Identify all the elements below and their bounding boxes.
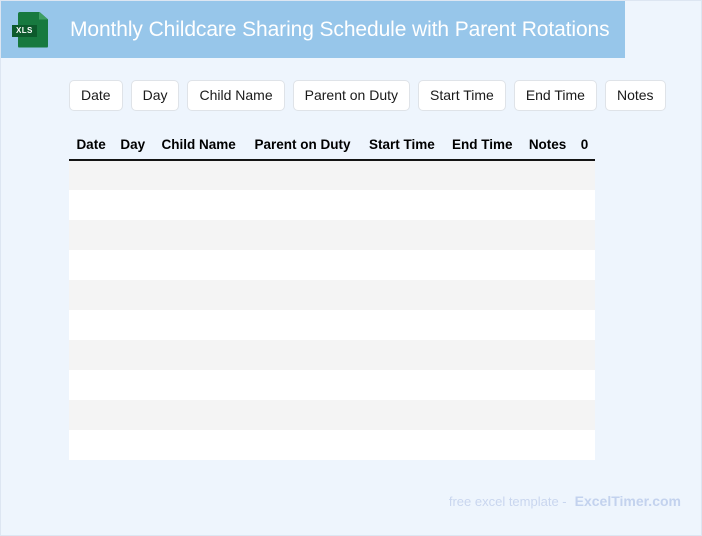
table-cell[interactable] [69,250,113,280]
table-cell[interactable] [360,340,443,370]
table-cell[interactable] [574,250,595,280]
table-row[interactable] [69,400,595,430]
table-cell[interactable] [113,250,152,280]
page-title: Monthly Childcare Sharing Schedule with … [70,18,610,42]
table-cell[interactable] [245,280,361,310]
table-cell[interactable] [574,340,595,370]
header-banner: XLS Monthly Childcare Sharing Schedule w… [1,1,625,58]
table-cell[interactable] [113,190,152,220]
table-cell[interactable] [521,340,574,370]
table-cell[interactable] [521,400,574,430]
table-row[interactable] [69,250,595,280]
table-row[interactable] [69,190,595,220]
xls-icon-label: XLS [12,25,37,37]
table-body [69,160,595,460]
table-cell[interactable] [360,250,443,280]
table-cell[interactable] [574,160,595,190]
field-chip-child-name[interactable]: Child Name [187,80,284,111]
table-cell[interactable] [444,190,522,220]
table-cell[interactable] [444,400,522,430]
column-header-start-time[interactable]: Start Time [360,134,443,160]
table-cell[interactable] [113,310,152,340]
table-cell[interactable] [360,370,443,400]
table-cell[interactable] [152,280,244,310]
table-cell[interactable] [444,370,522,400]
table-cell[interactable] [574,370,595,400]
table-cell[interactable] [444,430,522,460]
schedule-table: DateDayChild NameParent on DutyStart Tim… [69,134,595,460]
table-cell[interactable] [574,280,595,310]
field-chip-notes[interactable]: Notes [605,80,666,111]
table-cell[interactable] [69,220,113,250]
table-cell[interactable] [521,250,574,280]
table-cell[interactable] [574,190,595,220]
table-cell[interactable] [521,160,574,190]
table-cell[interactable] [360,190,443,220]
column-header-date[interactable]: Date [69,134,113,160]
field-chip-parent-on-duty[interactable]: Parent on Duty [293,80,410,111]
footer-brand-link[interactable]: ExcelTimer.com [575,493,681,509]
table-cell[interactable] [113,370,152,400]
table-cell[interactable] [521,430,574,460]
footer-label: free excel template - [449,494,567,509]
table-cell[interactable] [574,400,595,430]
table-cell[interactable] [152,160,244,190]
table-cell[interactable] [444,160,522,190]
table-cell[interactable] [113,430,152,460]
table-cell[interactable] [152,220,244,250]
table-cell[interactable] [69,340,113,370]
field-chip-start-time[interactable]: Start Time [418,80,506,111]
table-cell[interactable] [360,280,443,310]
table-cell[interactable] [245,190,361,220]
table-cell[interactable] [113,160,152,190]
table-cell[interactable] [245,370,361,400]
table-row[interactable] [69,220,595,250]
table-cell[interactable] [360,430,443,460]
column-header-0[interactable]: 0 [574,134,595,160]
table-cell[interactable] [360,400,443,430]
table-cell[interactable] [69,160,113,190]
column-header-notes[interactable]: Notes [521,134,574,160]
table-cell[interactable] [444,220,522,250]
table-cell[interactable] [360,310,443,340]
table-cell[interactable] [152,190,244,220]
table-cell[interactable] [69,430,113,460]
table-cell[interactable] [113,400,152,430]
table-cell[interactable] [574,430,595,460]
table-row[interactable] [69,370,595,400]
table-cell[interactable] [245,340,361,370]
table-cell[interactable] [152,430,244,460]
column-header-end-time[interactable]: End Time [444,134,522,160]
table-cell[interactable] [574,310,595,340]
table-row[interactable] [69,310,595,340]
field-chip-end-time[interactable]: End Time [514,80,597,111]
table-cell[interactable] [245,400,361,430]
table-cell[interactable] [245,160,361,190]
table-cell[interactable] [444,310,522,340]
table-cell[interactable] [521,280,574,310]
table-cell[interactable] [113,340,152,370]
table-row[interactable] [69,280,595,310]
table-row[interactable] [69,340,595,370]
table-cell[interactable] [521,310,574,340]
table-row[interactable] [69,430,595,460]
xls-file-icon: XLS [18,12,48,48]
table-cell[interactable] [152,370,244,400]
column-header-parent-on-duty[interactable]: Parent on Duty [245,134,361,160]
table-cell[interactable] [152,250,244,280]
column-header-day[interactable]: Day [113,134,152,160]
table-cell[interactable] [444,280,522,310]
table-cell[interactable] [521,190,574,220]
table-cell[interactable] [360,160,443,190]
table-cell[interactable] [360,220,443,250]
table-cell[interactable] [521,220,574,250]
table-cell[interactable] [113,280,152,310]
table-cell[interactable] [245,250,361,280]
table-header: DateDayChild NameParent on DutyStart Tim… [69,134,595,160]
table-cell[interactable] [152,310,244,340]
field-chip-date[interactable]: Date [69,80,123,111]
table-cell[interactable] [69,400,113,430]
footer: free excel template - ExcelTimer.com [449,493,681,509]
column-header-child-name[interactable]: Child Name [152,134,244,160]
field-chip-day[interactable]: Day [131,80,180,111]
table-cell[interactable] [152,400,244,430]
table-cell[interactable] [444,340,522,370]
table-cell[interactable] [245,220,361,250]
table-cell[interactable] [444,250,522,280]
table-cell[interactable] [245,430,361,460]
table-cell[interactable] [245,310,361,340]
table-cell[interactable] [521,370,574,400]
table-cell[interactable] [69,190,113,220]
table-cell[interactable] [113,220,152,250]
table-cell[interactable] [152,340,244,370]
table-cell[interactable] [69,310,113,340]
field-chip-row: DateDayChild NameParent on DutyStart Tim… [69,80,666,111]
table-cell[interactable] [69,370,113,400]
table-row[interactable] [69,160,595,190]
table-header-row: DateDayChild NameParent on DutyStart Tim… [69,134,595,160]
table-cell[interactable] [69,280,113,310]
table-cell[interactable] [574,220,595,250]
